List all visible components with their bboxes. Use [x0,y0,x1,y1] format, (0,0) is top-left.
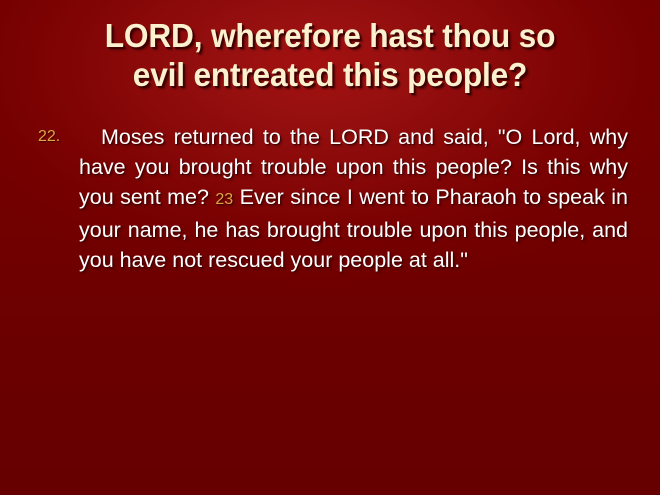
slide-title: LORD, wherefore hast thou so evil entrea… [38,16,622,94]
presentation-slide: LORD, wherefore hast thou so evil entrea… [0,0,660,495]
verse-marker-23: 23 [215,191,233,208]
paragraph-text: Moses returned to the LORD and said, "O … [79,122,628,275]
body-paragraph: 22. Moses returned to the LORD and said,… [36,122,628,275]
slide-body: 22. Moses returned to the LORD and said,… [36,122,628,275]
paragraph-number: 22. [36,122,79,152]
